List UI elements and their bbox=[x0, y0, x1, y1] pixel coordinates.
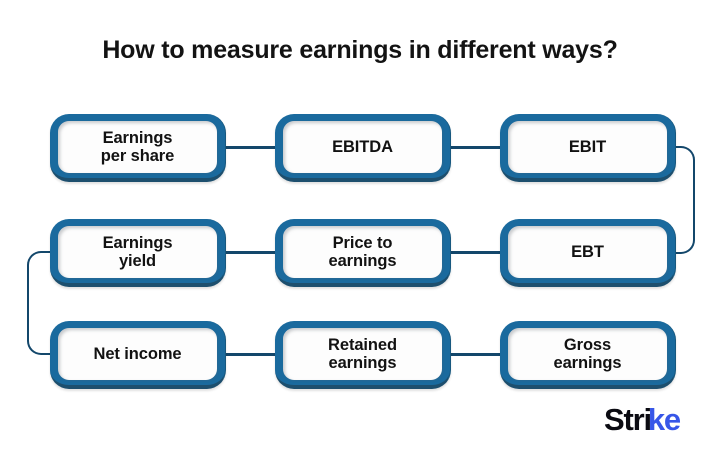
node-retained-earnings[interactable]: Retained earnings bbox=[275, 321, 451, 389]
node-label-line2: earnings bbox=[550, 354, 626, 372]
connector-net-income-to-retained-earnings bbox=[218, 353, 282, 356]
node-gross-earnings[interactable]: Gross earnings bbox=[500, 321, 676, 389]
node-ebitda[interactable]: EBITDA bbox=[275, 114, 451, 182]
node-label-line1: Retained bbox=[324, 336, 401, 354]
node-label-line1: EBITDA bbox=[328, 138, 397, 156]
node-ebt[interactable]: EBT bbox=[500, 219, 676, 287]
node-label-wrap: Net income bbox=[58, 328, 217, 380]
node-label-line2: earnings bbox=[325, 252, 401, 270]
node-earnings-per-share[interactable]: Earnings per share bbox=[50, 114, 226, 182]
node-label-wrap: Price to earnings bbox=[283, 226, 442, 278]
strike-logo-text-blue: ke bbox=[648, 402, 680, 438]
node-ebit[interactable]: EBIT bbox=[500, 114, 676, 182]
node-label-line1: Earnings bbox=[97, 129, 178, 147]
diagram-canvas: How to measure earnings in different way… bbox=[0, 0, 720, 450]
node-price-to-earnings[interactable]: Price to earnings bbox=[275, 219, 451, 287]
connector-retained-earnings-to-gross-earnings bbox=[443, 353, 507, 356]
node-label-line1: Price to bbox=[325, 234, 401, 252]
node-label-line2: earnings bbox=[324, 354, 401, 372]
node-label-line1: Net income bbox=[90, 345, 186, 363]
node-label-line1: EBT bbox=[567, 243, 608, 261]
connector-eps-to-ebitda bbox=[218, 146, 282, 149]
connector-ebitda-to-ebit bbox=[443, 146, 507, 149]
node-label-line2: per share bbox=[97, 147, 178, 165]
strike-logo: Stri ke bbox=[604, 402, 680, 438]
node-label-line1: Earnings bbox=[99, 234, 177, 252]
node-label-line1: Gross bbox=[550, 336, 626, 354]
node-label-wrap: Earnings per share bbox=[58, 121, 217, 173]
node-label-line1: EBIT bbox=[565, 138, 610, 156]
node-label-wrap: EBITDA bbox=[283, 121, 442, 173]
node-label-wrap: Retained earnings bbox=[283, 328, 442, 380]
node-label-line2: yield bbox=[99, 252, 177, 270]
node-label-wrap: Earnings yield bbox=[58, 226, 217, 278]
node-earnings-yield[interactable]: Earnings yield bbox=[50, 219, 226, 287]
node-label-wrap: Gross earnings bbox=[508, 328, 667, 380]
node-label-wrap: EBT bbox=[508, 226, 667, 278]
page-title: How to measure earnings in different way… bbox=[0, 36, 720, 65]
node-net-income[interactable]: Net income bbox=[50, 321, 226, 389]
connector-price-to-earnings-to-ebt bbox=[443, 251, 507, 254]
node-label-wrap: EBIT bbox=[508, 121, 667, 173]
connector-earnings-yield-to-price-to-earnings bbox=[218, 251, 282, 254]
strike-logo-text-dark: Stri bbox=[604, 402, 651, 438]
